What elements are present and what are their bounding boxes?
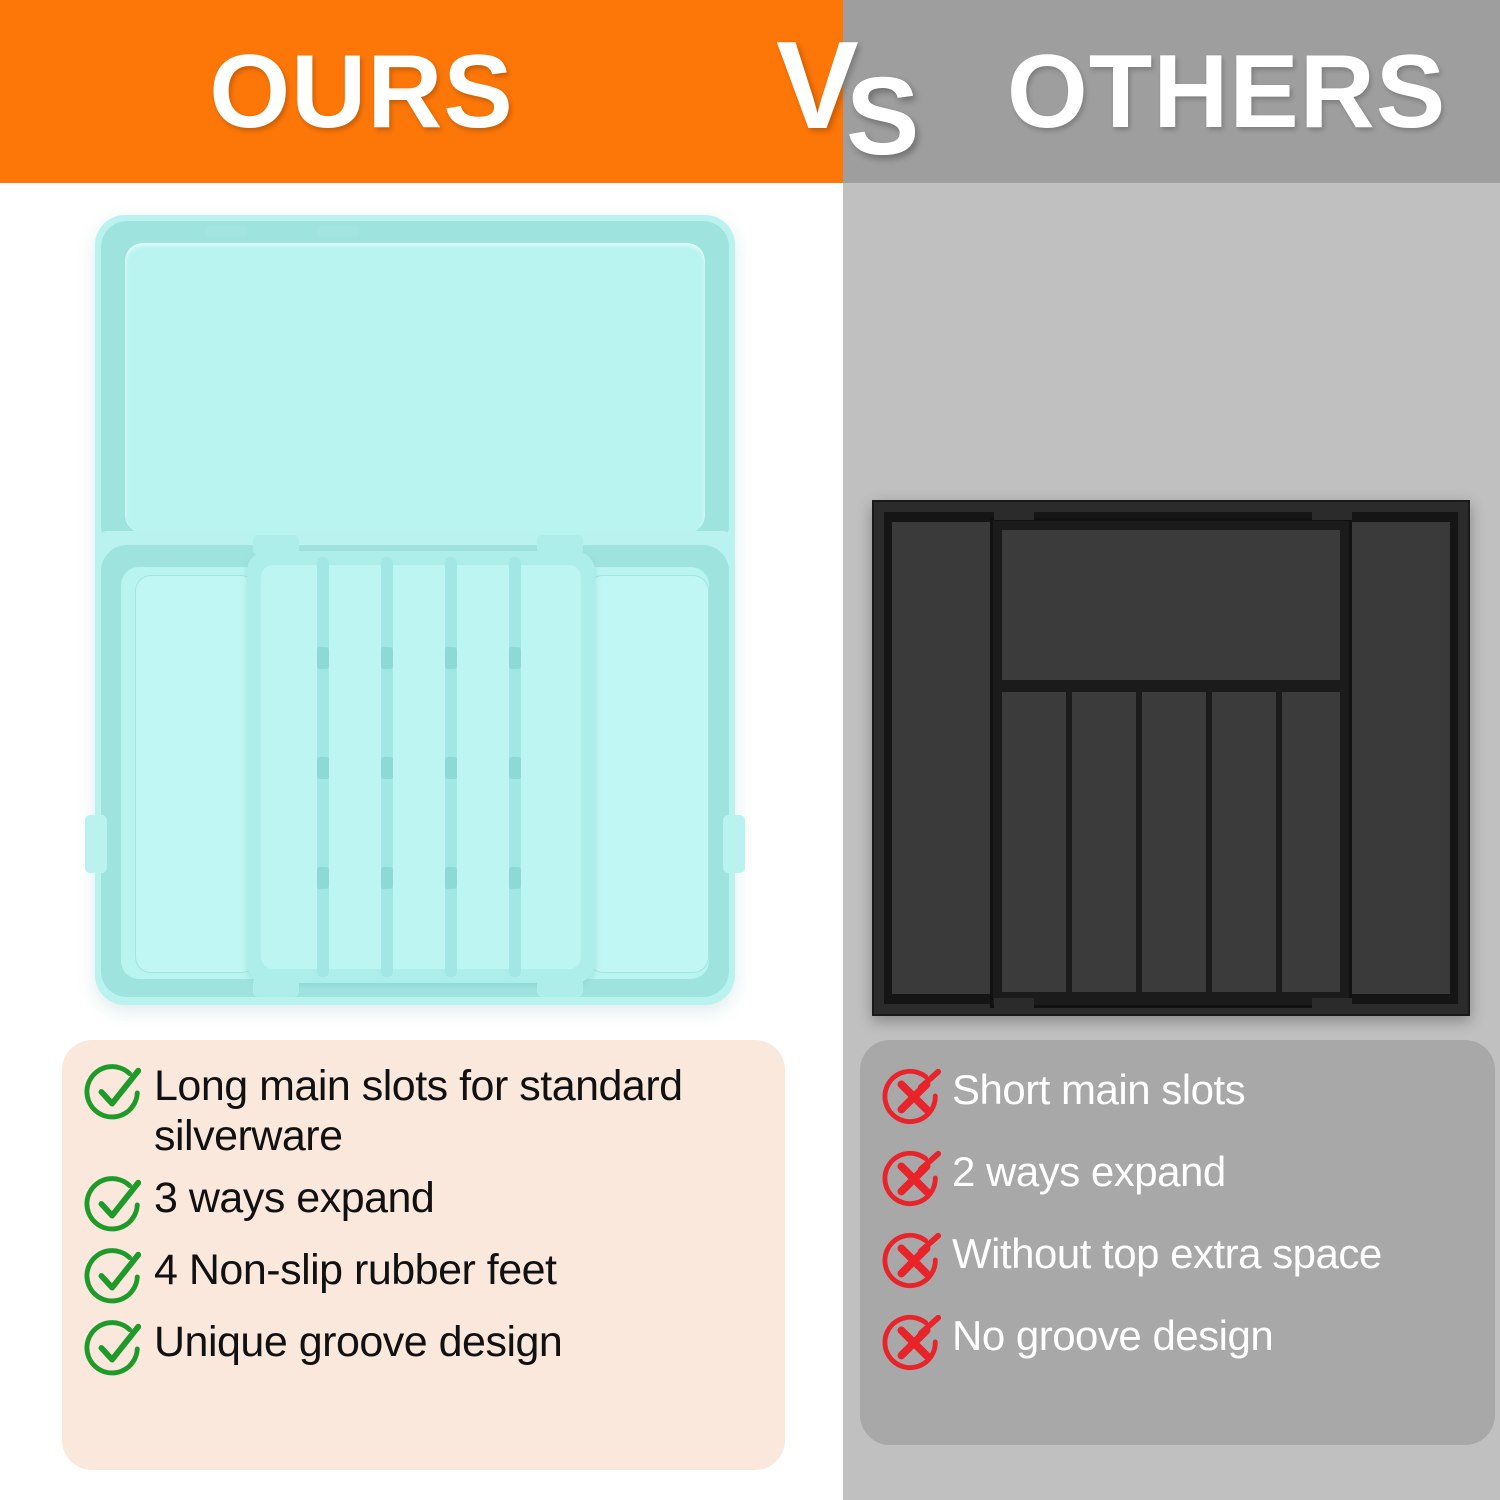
- check-circle-icon: [84, 1316, 146, 1378]
- feature-item: Short main slots: [882, 1066, 1473, 1126]
- feature-item: Long main slots for standard silverware: [84, 1062, 759, 1162]
- teal-center-insert: [247, 551, 595, 983]
- black-tab-top-left: [994, 506, 1034, 520]
- feature-label: No groove design: [952, 1312, 1273, 1361]
- teal-side-grip-right: [723, 815, 745, 873]
- feature-label: 4 Non-slip rubber feet: [154, 1246, 557, 1296]
- feature-item: Without top extra space: [882, 1230, 1473, 1290]
- teal-groove-tick: [317, 867, 329, 889]
- header-ours-label: OURS: [0, 0, 843, 183]
- black-side-channel-right: [1348, 522, 1450, 994]
- cross-circle-icon: [882, 1310, 944, 1372]
- teal-groove-tick: [317, 647, 329, 669]
- others-product-image: [872, 500, 1470, 1020]
- feature-label: 3 ways expand: [154, 1174, 434, 1224]
- black-tab-bottom-right: [1312, 998, 1352, 1012]
- comparison-header: OURS OTHERS V S: [0, 0, 1500, 183]
- teal-groove-tick: [445, 647, 457, 669]
- ours-product-image: [95, 215, 735, 1015]
- black-side-channel-left: [892, 522, 994, 994]
- black-tab-top-right: [1312, 506, 1352, 520]
- teal-groove-tick: [445, 757, 457, 779]
- cross-circle-icon: [882, 1064, 944, 1126]
- feature-item: Unique groove design: [84, 1318, 759, 1378]
- vs-badge: V S: [772, 18, 922, 168]
- teal-top-notch-2: [317, 225, 359, 237]
- vs-letter-s: S: [846, 62, 919, 172]
- teal-divider-4: [509, 557, 521, 977]
- black-slot-2: [1072, 692, 1136, 992]
- check-circle-icon: [84, 1060, 146, 1122]
- header-others-label: OTHERS: [843, 0, 1500, 183]
- feature-item: No groove design: [882, 1312, 1473, 1372]
- others-feature-panel: Short main slots 2 ways expand: [860, 1040, 1495, 1445]
- teal-groove-tick: [381, 647, 393, 669]
- teal-groove-tick: [381, 867, 393, 889]
- teal-groove-tick: [509, 647, 521, 669]
- teal-insert-tab-top-left: [253, 535, 299, 555]
- feature-label: 2 ways expand: [952, 1148, 1226, 1197]
- teal-divider-3: [445, 557, 457, 977]
- teal-side-channel-left: [135, 575, 257, 973]
- black-top-compartment: [1002, 530, 1340, 680]
- teal-insert-tab-bottom-right: [537, 977, 583, 997]
- feature-label: Unique groove design: [154, 1318, 562, 1368]
- black-slot-3: [1142, 692, 1206, 992]
- teal-top-notch-1: [205, 225, 247, 237]
- teal-groove-tick: [445, 867, 457, 889]
- teal-divider-1: [317, 557, 329, 977]
- feature-item: 3 ways expand: [84, 1174, 759, 1234]
- feature-label: Short main slots: [952, 1066, 1245, 1115]
- comparison-graphic: OURS OTHERS V S: [0, 0, 1500, 1500]
- teal-top-compartment: [125, 243, 705, 533]
- teal-insert-tab-top-right: [537, 535, 583, 555]
- teal-groove-tick: [509, 757, 521, 779]
- check-circle-icon: [84, 1172, 146, 1234]
- teal-center-insert-floor: [261, 565, 581, 969]
- teal-divider-2: [381, 557, 393, 977]
- black-tab-bottom-left: [994, 998, 1034, 1012]
- teal-side-channel-right: [587, 575, 709, 973]
- check-circle-icon: [84, 1244, 146, 1306]
- teal-insert-tab-bottom-left: [253, 977, 299, 997]
- teal-side-grip-left: [85, 815, 107, 873]
- cross-circle-icon: [882, 1228, 944, 1290]
- cross-circle-icon: [882, 1146, 944, 1208]
- teal-groove-tick: [317, 757, 329, 779]
- feature-label: Without top extra space: [952, 1230, 1382, 1279]
- black-slot-1: [1002, 692, 1066, 992]
- black-slot-4: [1212, 692, 1276, 992]
- teal-groove-tick: [381, 757, 393, 779]
- ours-feature-panel: Long main slots for standard silverware …: [62, 1040, 785, 1470]
- feature-item: 4 Non-slip rubber feet: [84, 1246, 759, 1306]
- feature-item: 2 ways expand: [882, 1148, 1473, 1208]
- feature-label: Long main slots for standard silverware: [154, 1062, 759, 1162]
- teal-groove-tick: [509, 867, 521, 889]
- black-slot-5: [1282, 692, 1340, 992]
